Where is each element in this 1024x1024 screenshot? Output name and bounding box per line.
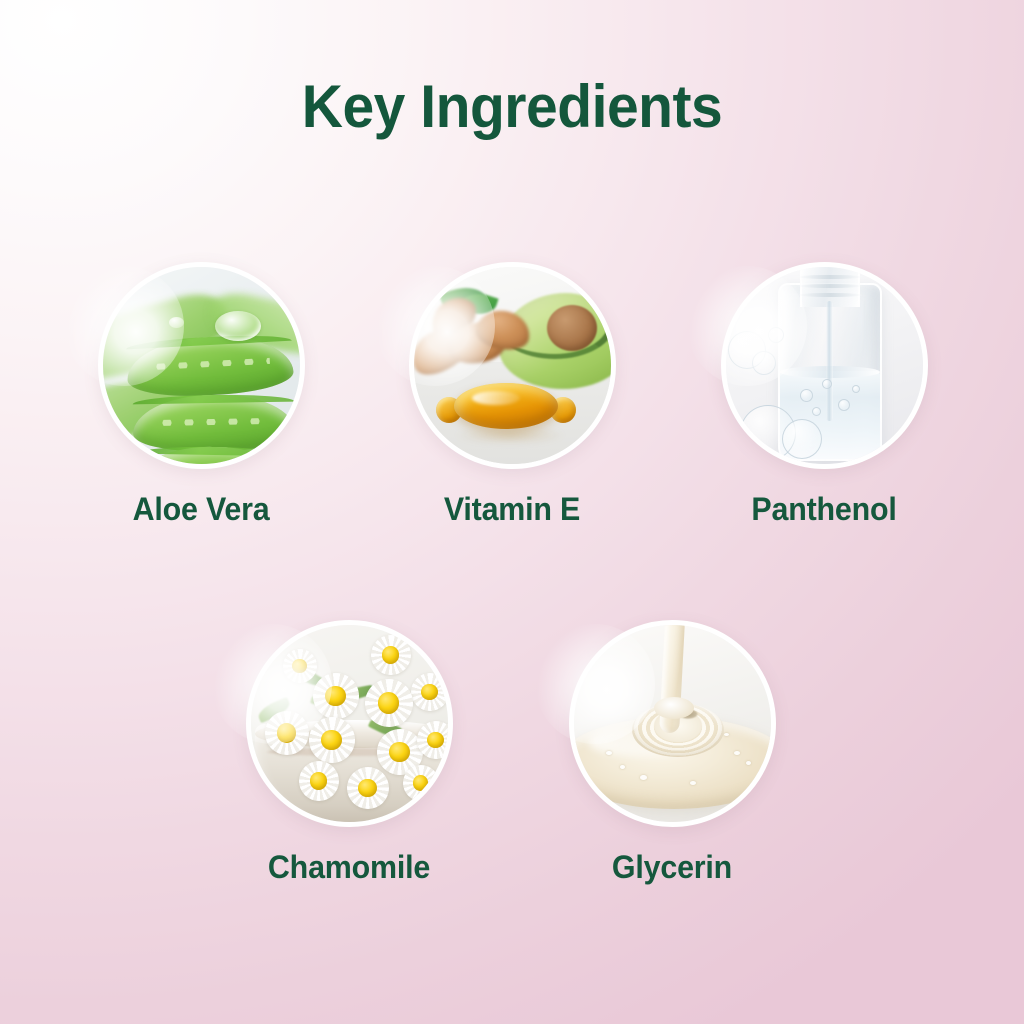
glycerin-speck (620, 765, 625, 769)
chamomile-flower (313, 673, 359, 719)
panthenol-image-wrap (721, 262, 928, 469)
ingredient-card-glycerin[interactable]: Glycerin (547, 620, 797, 886)
chamomile-image-wrap (246, 620, 453, 827)
key-ingredients-infographic: Key Ingredients (0, 0, 1024, 1024)
vitamin-e-circle (409, 262, 616, 469)
ingredient-label-aloe-vera: Aloe Vera (82, 491, 320, 528)
bubble-icon (800, 389, 813, 402)
chamomile-flower (299, 761, 339, 801)
bottle-thread (798, 293, 862, 297)
flower-center (413, 775, 429, 791)
ingredient-card-vitamin-e[interactable]: Vitamin E (387, 262, 637, 528)
flower-center (421, 684, 438, 701)
chamomile-flower (403, 765, 439, 801)
panthenol-circle (721, 262, 928, 469)
bubble-icon (768, 327, 784, 343)
chamomile-flower (265, 711, 309, 755)
swirl-top-highlight (654, 697, 694, 719)
glycerin-speck (746, 761, 751, 765)
bubble-icon (822, 379, 832, 389)
bottle-thread (798, 284, 862, 288)
aloe-vera-photo (103, 267, 300, 464)
water-droplet-icon (215, 311, 261, 341)
glycerin-speck (606, 751, 612, 755)
aloe-vera-circle (98, 262, 305, 469)
glycerin-circle (569, 620, 776, 827)
chamomile-circle (246, 620, 453, 827)
glycerin-speck (640, 775, 647, 780)
flower-center (382, 646, 400, 664)
bubble-icon (838, 399, 850, 411)
flower-center (389, 742, 409, 762)
chamomile-photo (251, 625, 448, 822)
vitamin-e-capsule (454, 383, 558, 429)
flower-center (378, 692, 399, 713)
panthenol-photo (726, 267, 923, 464)
aloe-vera-image-wrap (98, 262, 305, 469)
vitamin-e-image-wrap (409, 262, 616, 469)
chamomile-flower (283, 649, 317, 683)
aloe-slice-bottom (136, 446, 293, 469)
flower-center (358, 779, 376, 797)
glycerin-speck (690, 781, 696, 785)
glycerin-image-wrap (569, 620, 776, 827)
flower-center (321, 730, 341, 750)
chamomile-flower (365, 679, 413, 727)
chamomile-flower (371, 635, 411, 675)
aloe-slice-middle (132, 394, 295, 453)
capsule-shine (472, 391, 520, 405)
liquid-stream (826, 301, 833, 421)
aloe-slice-dots (155, 417, 272, 425)
aloe-slice-dots (150, 358, 270, 370)
bubble-icon (782, 419, 822, 459)
bubble-icon (812, 407, 821, 416)
chamomile-flower (347, 767, 389, 809)
chamomile-flower (309, 717, 355, 763)
bubble-icon (752, 351, 776, 375)
flower-center (325, 686, 345, 706)
glycerin-speck (724, 733, 729, 736)
ingredient-label-chamomile: Chamomile (230, 849, 468, 886)
chamomile-flower (417, 721, 453, 759)
chamomile-flower (411, 673, 449, 711)
ingredient-card-aloe-vera[interactable]: Aloe Vera (76, 262, 326, 528)
ingredient-label-panthenol: Panthenol (705, 491, 943, 528)
glycerin-speck (734, 751, 740, 755)
avocado-pit (547, 305, 597, 351)
water-droplet-small-icon (169, 317, 184, 328)
ingredient-label-vitamin-e: Vitamin E (393, 491, 631, 528)
glycerin-photo (574, 625, 771, 822)
flower-center (310, 772, 328, 790)
ingredient-card-panthenol[interactable]: Panthenol (699, 262, 949, 528)
page-title: Key Ingredients (26, 72, 999, 141)
vitamin-e-photo (414, 267, 611, 464)
bubble-icon (852, 385, 860, 393)
bottle-thread (798, 275, 862, 279)
ingredient-card-chamomile[interactable]: Chamomile (224, 620, 474, 886)
flower-center (427, 732, 444, 749)
flower-center (277, 723, 296, 742)
ingredient-label-glycerin: Glycerin (553, 849, 791, 886)
